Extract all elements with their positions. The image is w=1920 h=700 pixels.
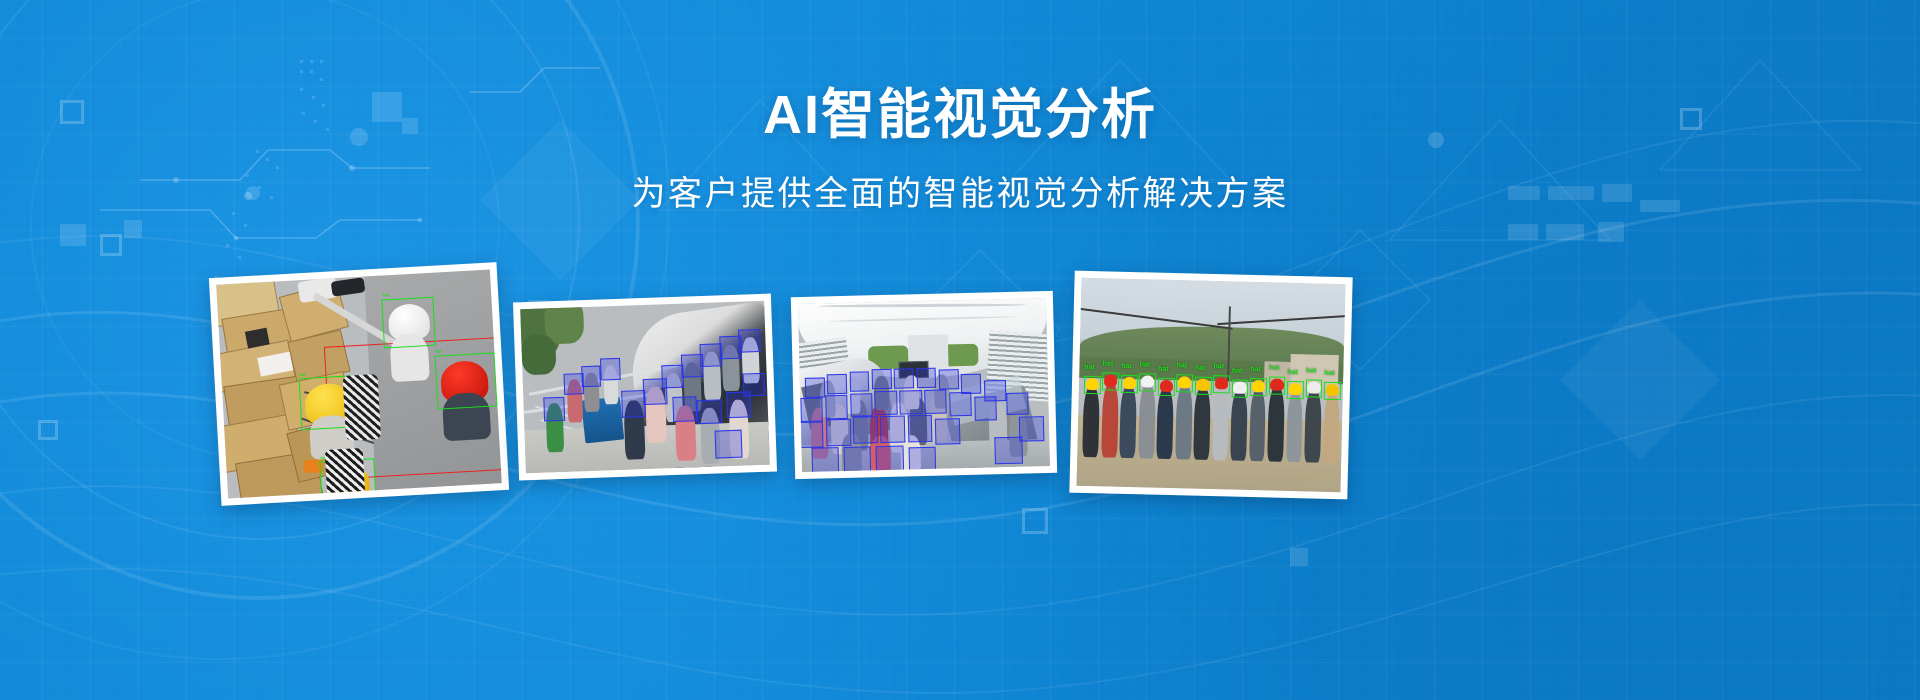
worker-body (442, 392, 491, 442)
passenger (820, 380, 836, 417)
passenger (934, 374, 950, 408)
pedestrian (603, 365, 619, 405)
gallery-card-station-crowd[interactable] (791, 291, 1057, 479)
worker (1119, 385, 1137, 458)
helmet-yellow (1252, 380, 1265, 393)
gallery-card-warehouse-hardhat[interactable]: hat hat hat hat (209, 262, 509, 506)
worker (1101, 382, 1119, 457)
worker (1304, 389, 1322, 462)
worker (1249, 388, 1267, 461)
helmet-red (1159, 380, 1172, 393)
helmet-yellow (1085, 378, 1098, 391)
helmet-yellow (1122, 377, 1135, 390)
worker-jacket (324, 448, 365, 497)
pedestrian (675, 405, 696, 461)
gallery-card-footbridge-crowd[interactable] (513, 294, 777, 481)
tree (521, 334, 557, 375)
worker (1230, 390, 1248, 461)
helmet-red (1270, 378, 1283, 391)
passenger (989, 403, 1007, 447)
decor-square-outline-2 (100, 234, 122, 256)
decor-square-fill-6 (1290, 548, 1308, 566)
ai-vision-banner: AI智能视觉分析 为客户提供全面的智能视觉分析解决方案 (0, 0, 1920, 700)
page-title: AI智能视觉分析 (0, 84, 1920, 146)
passenger (841, 434, 862, 472)
worker-jacket (342, 374, 381, 440)
passenger (874, 376, 890, 410)
pedestrian (583, 372, 599, 412)
decor-square-fill-4 (60, 224, 86, 246)
pedestrian (545, 403, 564, 453)
helmet-yellow (1289, 383, 1302, 396)
orange-object (303, 459, 323, 473)
helmet-red (1104, 374, 1117, 387)
worker (1212, 385, 1230, 460)
passenger (871, 436, 892, 472)
helmet-yellow (1196, 378, 1209, 391)
worker (1267, 386, 1285, 461)
worker (1175, 384, 1193, 459)
pedestrian (741, 337, 760, 383)
passenger (900, 435, 921, 472)
worker (1082, 386, 1100, 457)
worker (1286, 391, 1304, 462)
helmet-white (1233, 381, 1246, 394)
worker (1138, 383, 1156, 458)
gallery-card-outdoor-hardhat[interactable]: hat hat hat hat hat hat hat (1069, 271, 1352, 500)
decor-square-fill-1 (124, 220, 142, 238)
photo-footbridge-crowd (520, 301, 770, 473)
passenger (904, 375, 920, 409)
dark-equipment (331, 277, 366, 297)
pedestrian (702, 352, 721, 402)
photo-station-crowd (798, 298, 1050, 472)
banner-text-block: AI智能视觉分析 为客户提供全面的智能视觉分析解决方案 (0, 84, 1920, 216)
photo-warehouse-hardhat: hat hat hat hat (216, 270, 502, 499)
page-subtitle: 为客户提供全面的智能视觉分析解决方案 (0, 172, 1920, 216)
detection-gallery: hat hat hat hat (0, 262, 1920, 512)
passenger (1009, 413, 1027, 457)
helmet-yellow (1326, 384, 1339, 397)
helmet-white (1307, 381, 1320, 394)
worker (1156, 388, 1174, 459)
helmet-yellow (1178, 376, 1191, 389)
worker-body (389, 333, 430, 382)
worker (1193, 387, 1211, 460)
helmet-white (1141, 375, 1154, 388)
worker (1323, 392, 1341, 463)
pedestrian (645, 386, 666, 442)
pedestrian (624, 400, 646, 460)
passenger (844, 376, 860, 413)
pedestrian (567, 379, 583, 422)
photo-outdoor-hardhat: hat hat hat hat hat hat hat (1076, 278, 1345, 492)
helmet-red (1215, 377, 1228, 390)
